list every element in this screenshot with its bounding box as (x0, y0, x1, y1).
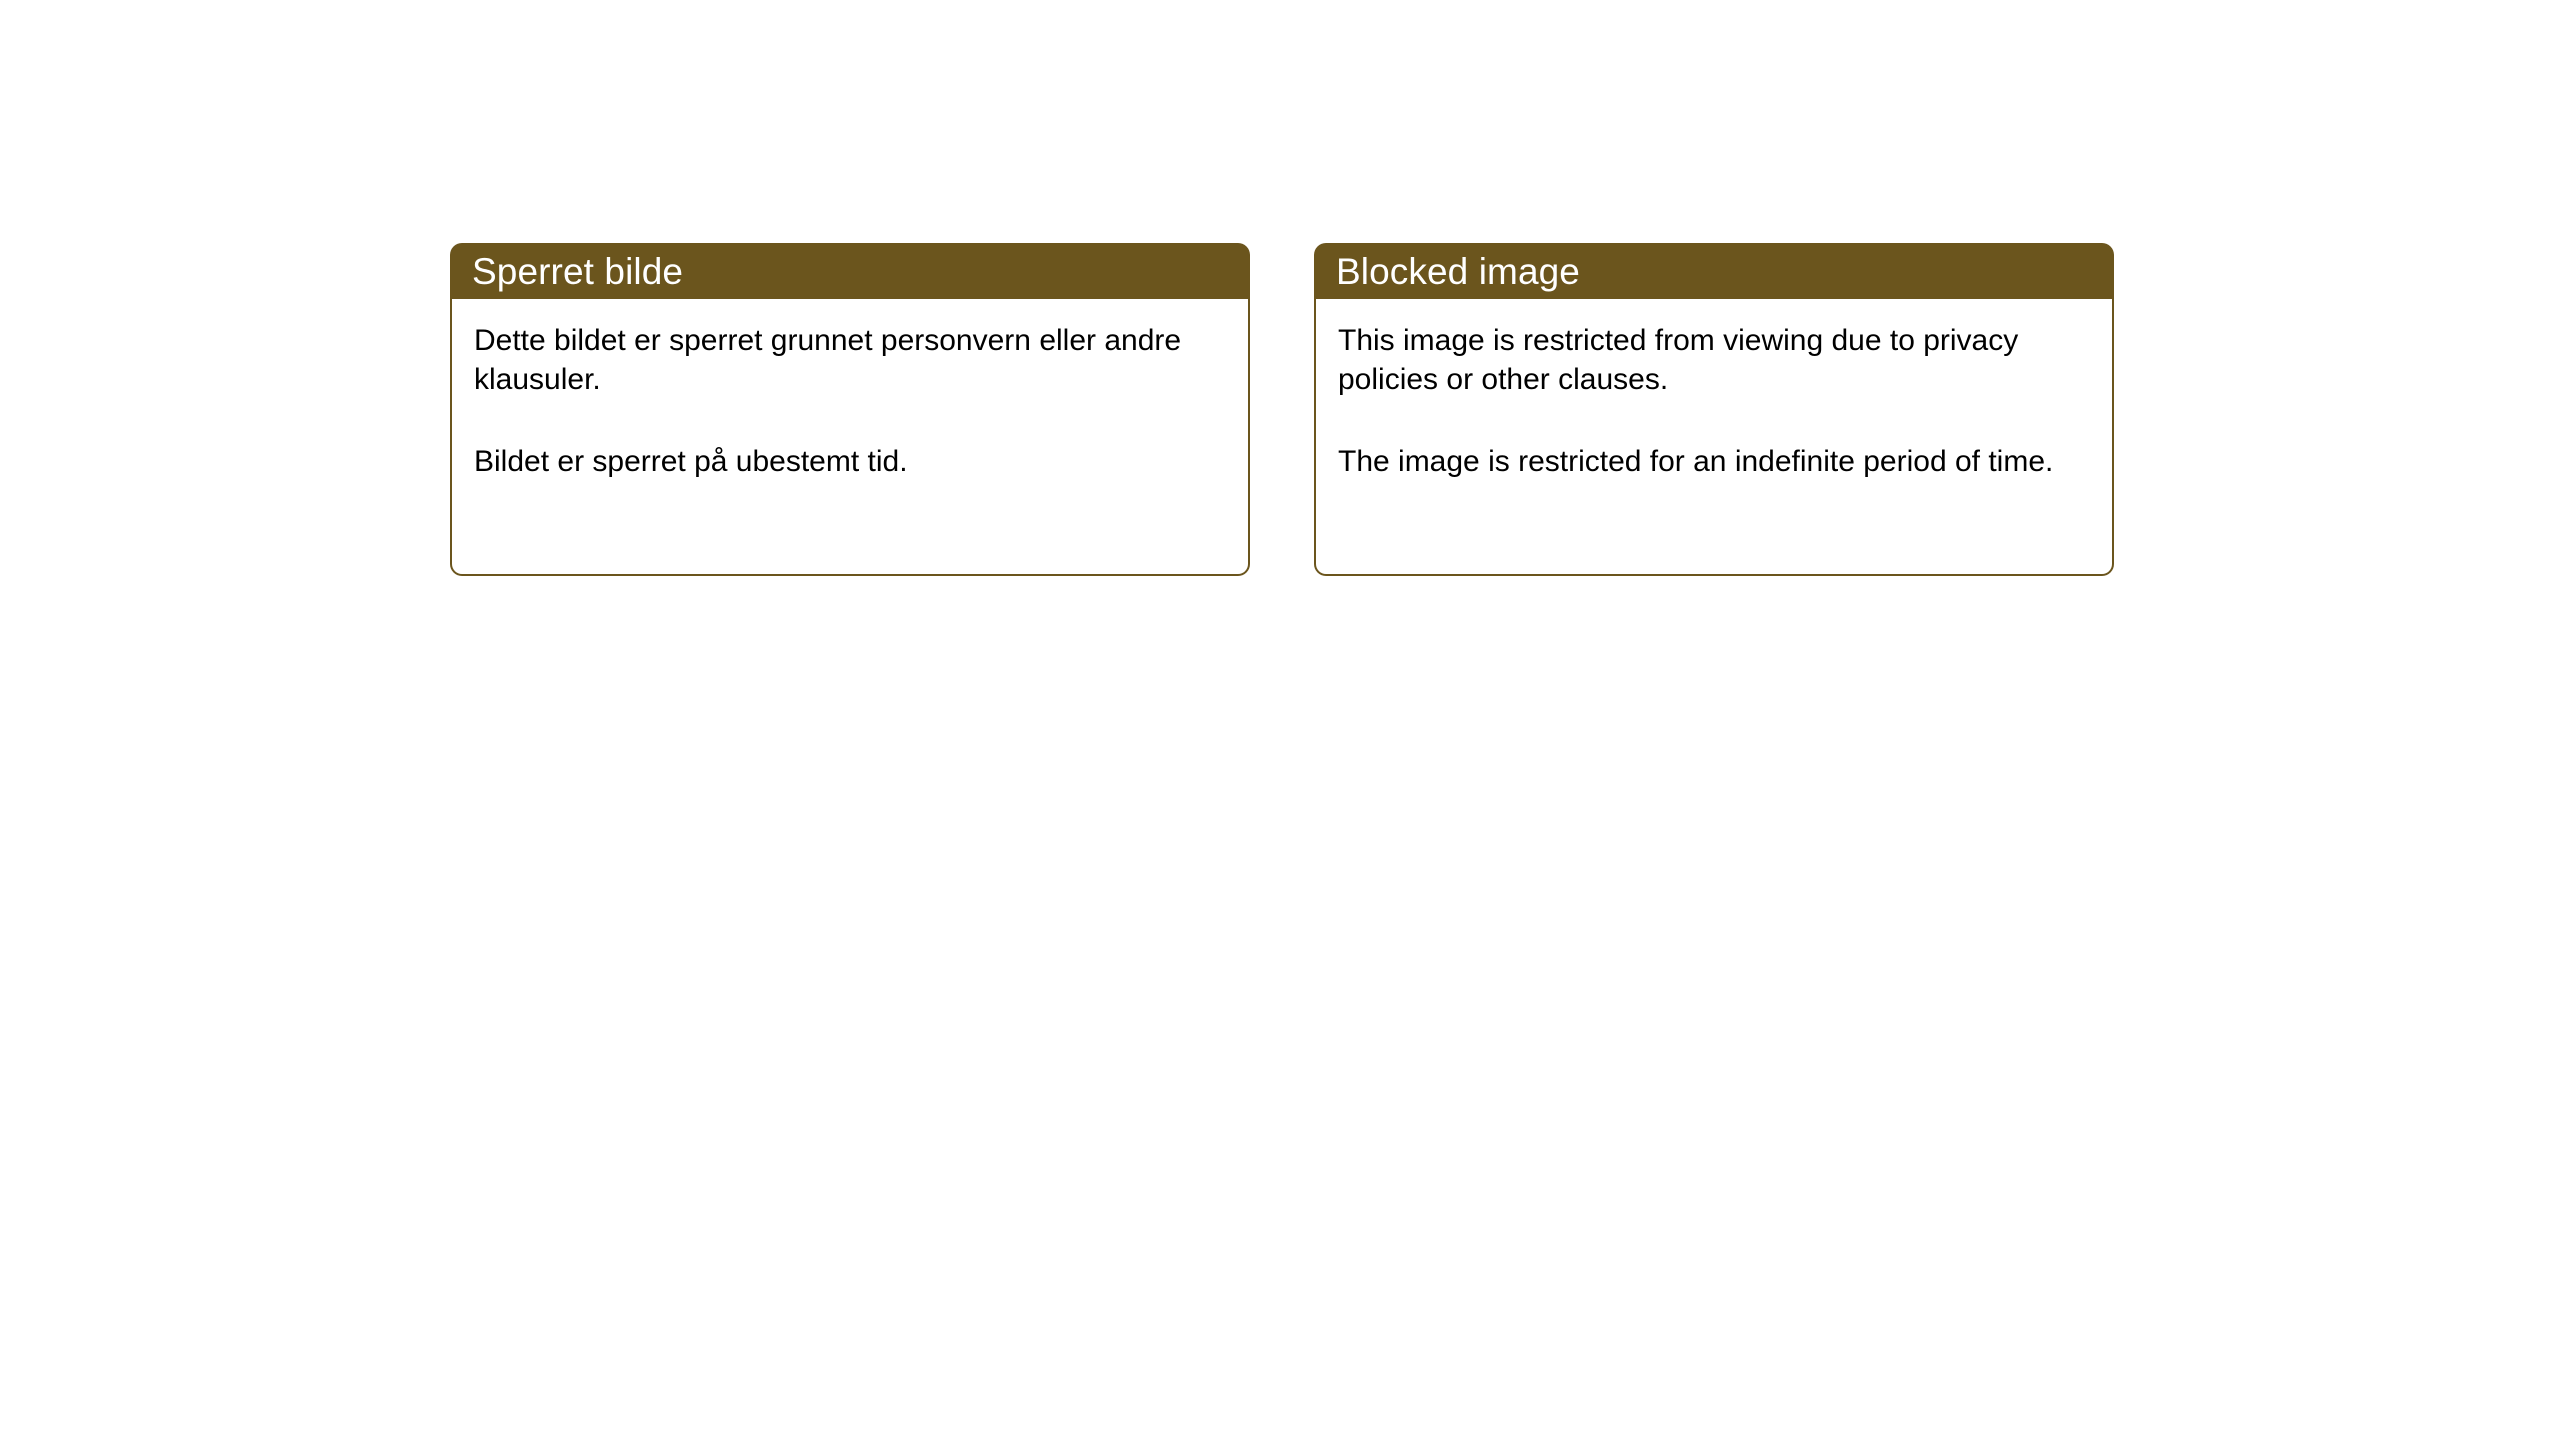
notice-paragraph-en-2: The image is restricted for an indefinit… (1338, 442, 2090, 481)
notice-header-en: Blocked image (1314, 243, 2114, 299)
notice-paragraph-en-1: This image is restricted from viewing du… (1338, 321, 2090, 399)
notice-title-en: Blocked image (1336, 253, 1580, 290)
notice-body-no: Dette bildet er sperret grunnet personve… (450, 299, 1250, 576)
notice-paragraph-no-1: Dette bildet er sperret grunnet personve… (474, 321, 1226, 399)
notice-paragraph-no-2: Bildet er sperret på ubestemt tid. (474, 442, 1226, 481)
screen-canvas: Sperret bilde Dette bildet er sperret gr… (0, 0, 2560, 1440)
notice-title-no: Sperret bilde (472, 253, 683, 290)
blocked-image-notice-no: Sperret bilde Dette bildet er sperret gr… (450, 243, 1250, 576)
blocked-image-notice-en: Blocked image This image is restricted f… (1314, 243, 2114, 576)
notice-header-no: Sperret bilde (450, 243, 1250, 299)
notice-panel-row: Sperret bilde Dette bildet er sperret gr… (450, 243, 2114, 576)
notice-body-en: This image is restricted from viewing du… (1314, 299, 2114, 576)
